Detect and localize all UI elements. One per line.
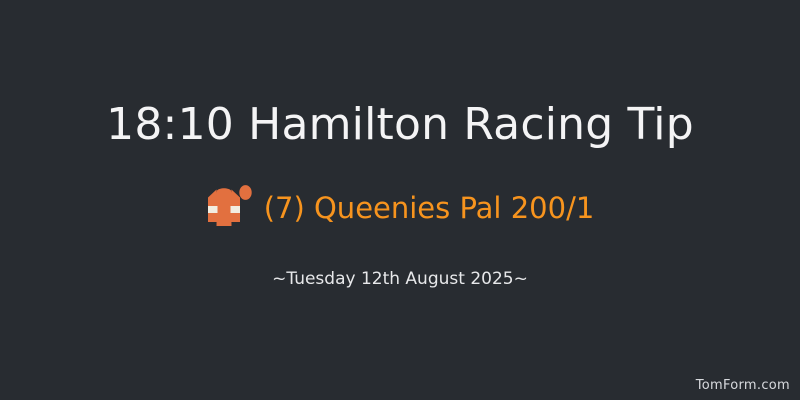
silk-cap-shape — [239, 185, 251, 200]
silk-body — [216, 188, 231, 226]
tip-card: 18:10 Hamilton Racing Tip (7) Queenies P… — [0, 0, 800, 400]
jockey-silk-svg — [206, 184, 252, 232]
silk-right-cuff — [230, 206, 240, 213]
silk-left-cuff — [208, 206, 218, 213]
page-title: 18:10 Hamilton Racing Tip — [0, 97, 800, 153]
silk-right-sleeve — [230, 190, 240, 223]
silk-left-sleeve — [208, 190, 218, 223]
tip-selection-text: (7) Queenies Pal 200/1 — [264, 191, 595, 225]
tip-selection-row: (7) Queenies Pal 200/1 — [0, 184, 800, 232]
jockey-silk-icon — [206, 184, 252, 232]
site-watermark: TomForm.com — [696, 378, 790, 394]
race-date: ~Tuesday 12th August 2025~ — [0, 268, 800, 290]
